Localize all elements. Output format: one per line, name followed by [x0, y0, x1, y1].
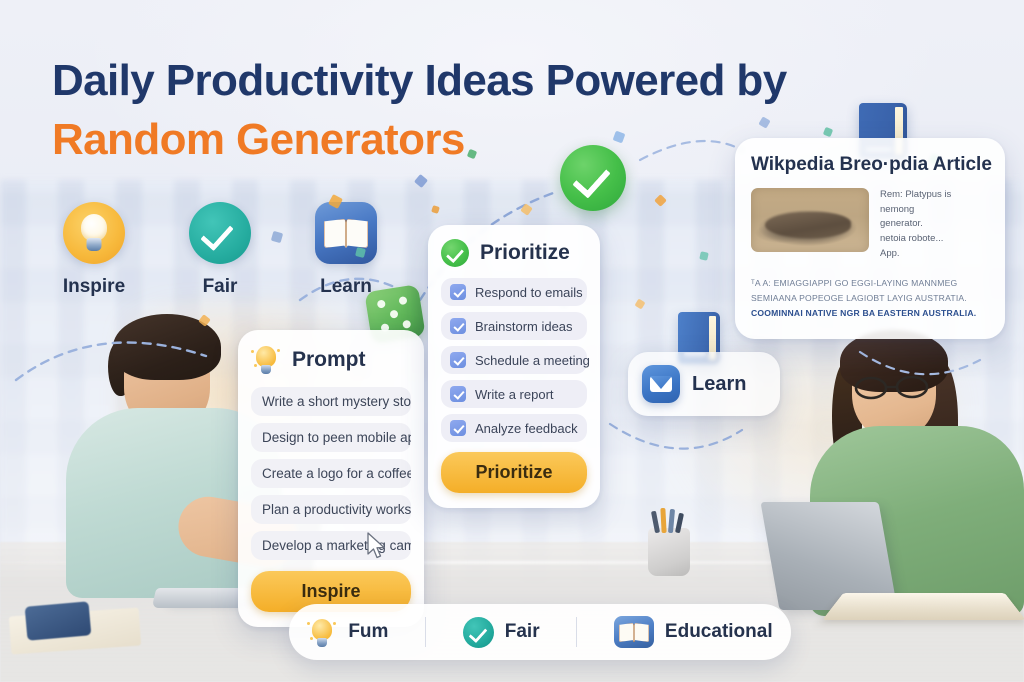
- wikipedia-footer-line: COOMINNAI NATIVE NGR BA EASTERN AUSTRALI…: [751, 306, 989, 321]
- prioritize-item-label: Respond to emails: [475, 285, 583, 300]
- wikipedia-footer-line: SEMIAANA POPEOGE LAGIOBT LAYIG AUSTRATIA…: [751, 291, 989, 306]
- prompt-item[interactable]: Plan a productivity workshope: [251, 495, 411, 524]
- feature-inspire-label: Inspire: [50, 276, 138, 298]
- wikipedia-card-title: Wikpedia Breo·pdia Article: [751, 154, 989, 176]
- feature-fair-label: Fair: [176, 276, 264, 298]
- page-title: Daily Productivity Ideas Powered by Rand…: [52, 56, 812, 165]
- wikipedia-card-body: Rem: Platypus is nemong generator. netoi…: [751, 188, 989, 262]
- bottom-bar-divider: [576, 617, 577, 647]
- learn-chip[interactable]: Learn: [628, 352, 780, 416]
- right-person-illustration: [788, 330, 1024, 620]
- bottom-item-fun-label: Fum: [348, 621, 388, 643]
- wikipedia-side-line: App.: [880, 247, 951, 262]
- feature-learn[interactable]: Learn: [302, 202, 390, 298]
- prompt-item[interactable]: Design to peen mobile app: [251, 423, 411, 452]
- platypus-photo: [751, 188, 869, 252]
- bottom-item-educational-label: Educational: [665, 621, 773, 643]
- prioritize-item[interactable]: Respond to emails: [441, 278, 587, 306]
- checkbox-checked-icon[interactable]: [450, 284, 466, 300]
- prioritize-card-title: Prioritize: [480, 241, 570, 265]
- prompt-item[interactable]: Write a short mystery story: [251, 387, 411, 416]
- prioritize-card-header: Prioritize: [441, 239, 587, 267]
- wikipedia-side-text: Rem: Platypus is nemong generator. netoi…: [880, 188, 951, 262]
- infographic-canvas: Daily Productivity Ideas Powered by Rand…: [0, 0, 1024, 682]
- bottom-item-educational[interactable]: Educational: [614, 616, 773, 648]
- desk-phone: [25, 601, 92, 640]
- lightbulb-icon: [63, 202, 125, 264]
- check-circle-icon: [463, 617, 494, 648]
- right-person-glasses: [854, 376, 932, 400]
- wikipedia-article-card: Wikpedia Breo·pdia Article Rem: Platypus…: [735, 138, 1005, 339]
- prioritize-item[interactable]: Write a report: [441, 380, 587, 408]
- bottom-item-fair-label: Fair: [505, 621, 540, 643]
- wikipedia-footer-line: ᵀA A: EMIAGGIAPPI GO EGGI-LAYING MANNMEG: [751, 276, 989, 291]
- prompt-card-header: Prompt: [251, 344, 411, 376]
- feature-trio: Inspire Fair Learn: [50, 202, 390, 298]
- feature-fair[interactable]: Fair: [176, 202, 264, 298]
- prompt-item[interactable]: Create a logo for a coffee sup: [251, 459, 411, 488]
- prioritize-card: Prioritize Respond to emails Brainstorm …: [428, 225, 600, 508]
- lightbulb-icon: [251, 344, 281, 376]
- bottom-item-fun[interactable]: Fum: [307, 616, 388, 648]
- open-book-icon: [614, 616, 654, 648]
- check-circle-icon: [189, 202, 251, 264]
- big-check-circle-icon: [560, 145, 626, 211]
- pencil-cup: [648, 528, 690, 576]
- wikipedia-side-line: netoia robote...: [880, 232, 951, 247]
- prioritize-item[interactable]: Analyze feedback: [441, 414, 587, 442]
- prioritize-item-label: Brainstorm ideas: [475, 319, 573, 334]
- bottom-bar-divider: [425, 617, 426, 647]
- bottom-item-fair[interactable]: Fair: [463, 617, 540, 648]
- learn-chip-label: Learn: [692, 373, 746, 396]
- prioritize-item-label: Schedule a meeting: [475, 353, 590, 368]
- check-circle-icon: [441, 239, 469, 267]
- lightbulb-icon: [307, 616, 337, 648]
- title-line-1: Daily Productivity Ideas Powered by: [52, 56, 812, 105]
- checkbox-checked-icon[interactable]: [450, 420, 466, 436]
- prioritize-item-label: Analyze feedback: [475, 421, 578, 436]
- wikipedia-footer-text: ᵀA A: EMIAGGIAPPI GO EGGI-LAYING MANNMEG…: [751, 276, 989, 321]
- wikipedia-side-line: nemong: [880, 203, 951, 218]
- prioritize-item[interactable]: Schedule a meeting: [441, 346, 587, 374]
- title-line-2: Random Generators: [52, 115, 812, 164]
- left-person-hair: [113, 314, 221, 380]
- prioritize-button[interactable]: Prioritize: [441, 452, 587, 493]
- checkbox-checked-icon[interactable]: [450, 318, 466, 334]
- wikipedia-side-line: generator.: [880, 217, 951, 232]
- mail-icon: [642, 365, 680, 403]
- prioritize-item-list: Respond to emails Brainstorm ideas Sched…: [441, 278, 587, 442]
- checkbox-checked-icon[interactable]: [450, 386, 466, 402]
- prioritize-item[interactable]: Brainstorm ideas: [441, 312, 587, 340]
- checkbox-checked-icon[interactable]: [450, 352, 466, 368]
- prioritize-item-label: Write a report: [475, 387, 554, 402]
- prompt-card: Prompt Write a short mystery story Desig…: [238, 330, 424, 627]
- prompt-card-title: Prompt: [292, 348, 366, 372]
- open-book-icon: [315, 202, 377, 264]
- feature-inspire[interactable]: Inspire: [50, 202, 138, 298]
- mouse-cursor-icon: [366, 532, 388, 560]
- wikipedia-side-line: Rem: Platypus is: [880, 188, 951, 203]
- bottom-feature-bar: Fum Fair Educational: [289, 604, 791, 660]
